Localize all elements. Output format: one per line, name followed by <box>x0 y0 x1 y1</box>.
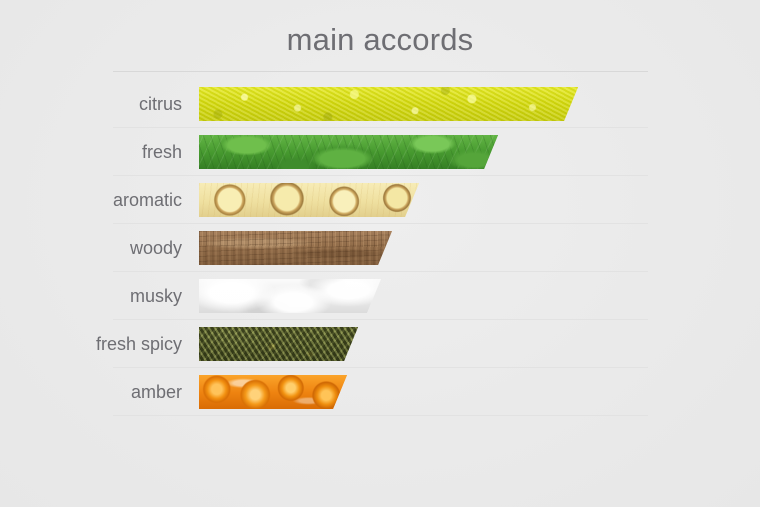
accord-row: fresh <box>0 128 760 176</box>
accord-label-musky: musky <box>130 272 182 320</box>
accord-rows: citrusfresharomaticwoodymuskyfresh spicy… <box>0 80 760 416</box>
accord-bar-amber <box>199 375 347 409</box>
accord-bar-fresh-spicy <box>199 327 358 361</box>
bar-texture-lemon-zest <box>199 87 578 121</box>
bar-texture-amber-resin <box>199 375 347 409</box>
bar-texture-white-powder <box>199 279 381 313</box>
main-accords-chart: main accords citrusfresharomaticwoodymus… <box>0 0 760 507</box>
accord-bar-musky <box>199 279 381 313</box>
accord-label-fresh: fresh <box>142 128 182 176</box>
accord-label-amber: amber <box>131 368 182 416</box>
accord-bar-citrus <box>199 87 578 121</box>
bar-texture-dried-fennel-seeds <box>199 327 358 361</box>
accord-row: citrus <box>0 80 760 128</box>
accord-bar-aromatic <box>199 183 419 217</box>
accord-label-citrus: citrus <box>139 80 182 128</box>
accord-label-aromatic: aromatic <box>113 176 182 224</box>
accord-row: musky <box>0 272 760 320</box>
title-divider <box>113 71 648 72</box>
accord-label-woody: woody <box>130 224 182 272</box>
accord-row: woody <box>0 224 760 272</box>
accord-row: fresh spicy <box>0 320 760 368</box>
accord-row: aromatic <box>0 176 760 224</box>
bar-texture-wood-grain <box>199 231 392 265</box>
bar-texture-ginger-slices <box>199 183 419 217</box>
page-title: main accords <box>0 22 760 58</box>
accord-bar-fresh <box>199 135 498 169</box>
accord-bar-woody <box>199 231 392 265</box>
bar-texture-green-leaves <box>199 135 498 169</box>
accord-row: amber <box>0 368 760 416</box>
accord-label-fresh-spicy: fresh spicy <box>96 320 182 368</box>
